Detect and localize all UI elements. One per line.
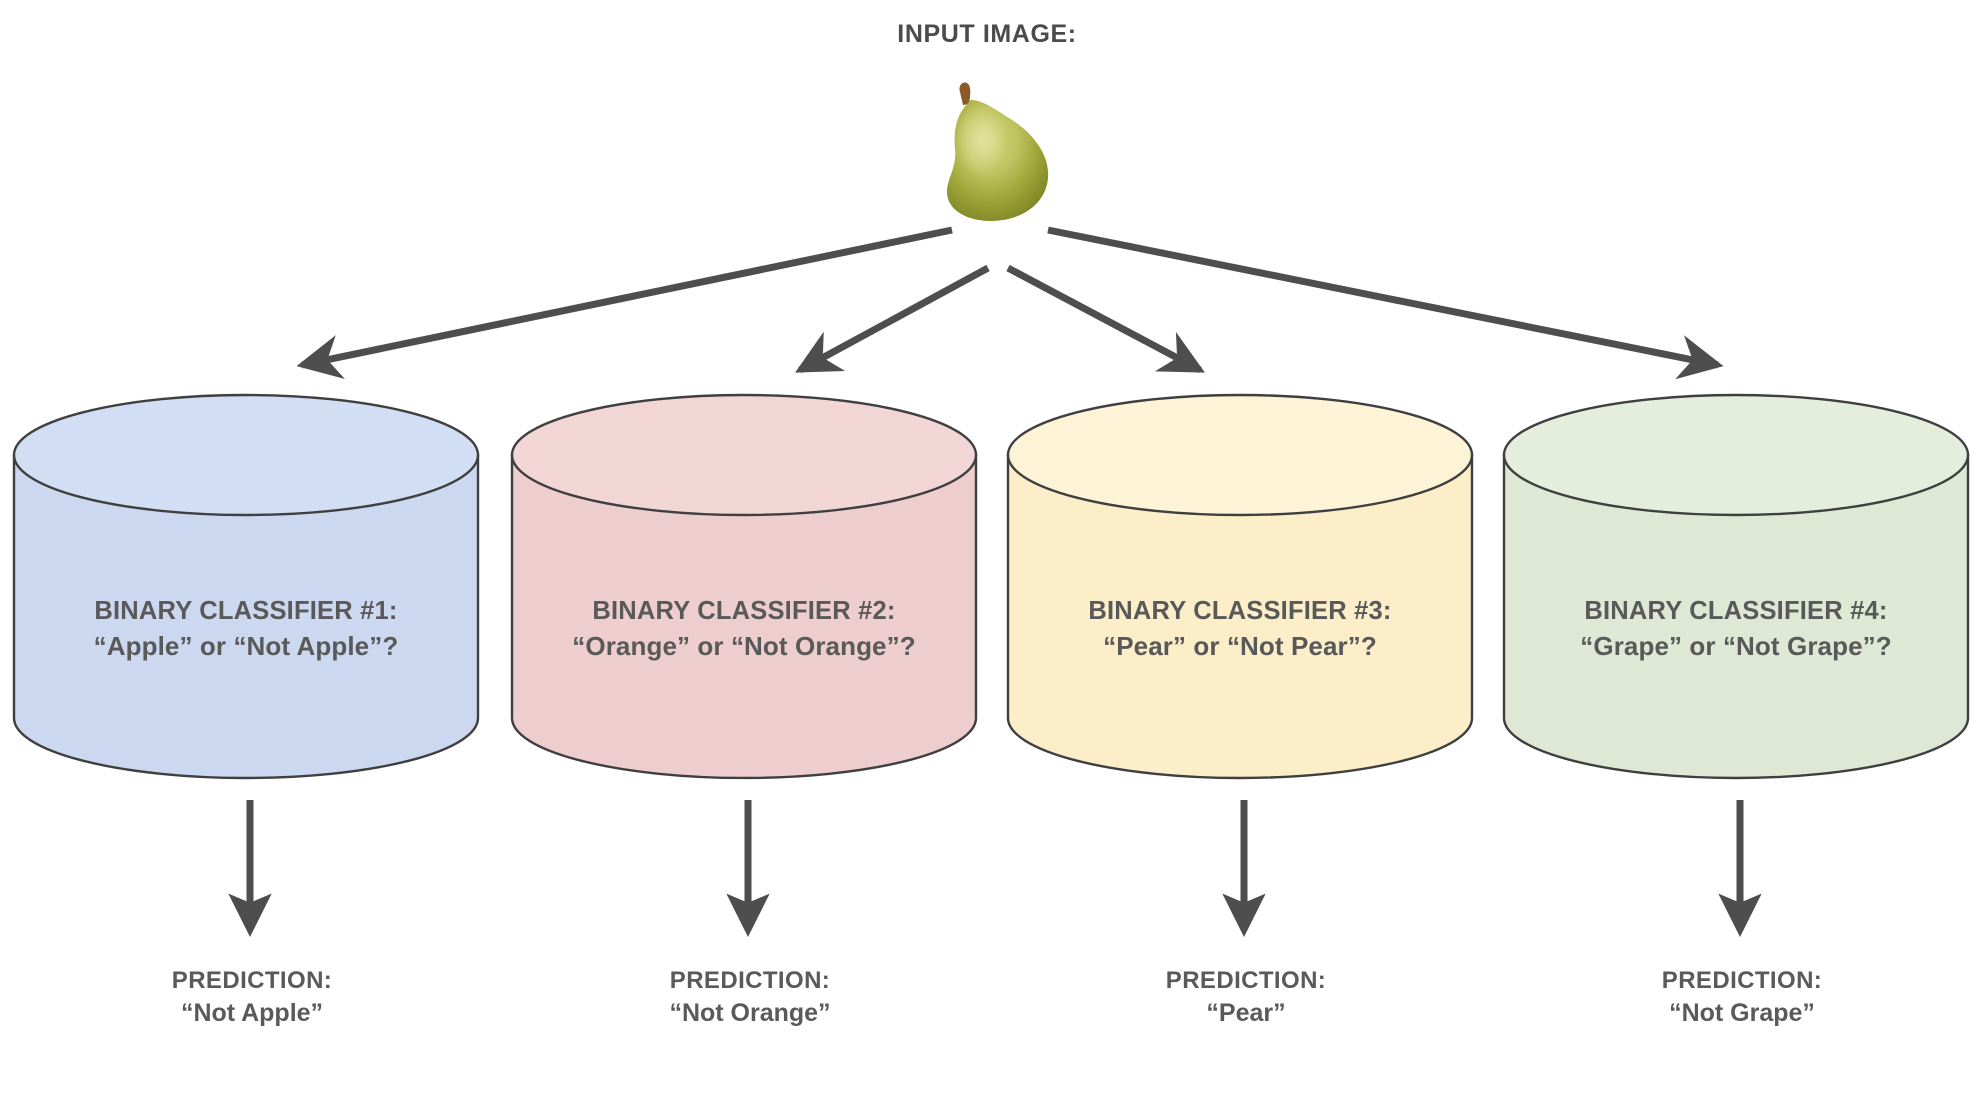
arrow-input-to-classifier-1 [302,230,952,365]
prediction-3-title: PREDICTION: [1014,965,1478,997]
prediction-3-value: “Pear” [1014,997,1478,1031]
classifier-3-cylinder[interactable] [1008,395,1472,778]
classifier-3-top [1008,395,1472,515]
prediction-4-value: “Not Grape” [1510,997,1974,1031]
arrow-input-to-classifier-3 [1008,268,1200,370]
prediction-4: PREDICTION: “Not Grape” [1510,965,1974,1031]
prediction-arrows [250,800,1740,930]
prediction-4-title: PREDICTION: [1510,965,1974,997]
classifier-1-cylinder[interactable] [14,395,478,778]
prediction-1: PREDICTION: “Not Apple” [20,965,484,1031]
classifier-2-top [512,395,976,515]
prediction-3: PREDICTION: “Pear” [1014,965,1478,1031]
classifier-1-top [14,395,478,515]
diagram-canvas: INPUT IMAGE: [0,0,1974,1100]
classifier-2-cylinder[interactable] [512,395,976,778]
prediction-2-value: “Not Orange” [518,997,982,1031]
prediction-2-title: PREDICTION: [518,965,982,997]
diagram-graphics [0,0,1974,1100]
classifier-4-cylinder[interactable] [1504,395,1968,778]
prediction-1-title: PREDICTION: [20,965,484,997]
prediction-2: PREDICTION: “Not Orange” [518,965,982,1031]
classifier-4-top [1504,395,1968,515]
arrow-input-to-classifier-2 [800,268,988,370]
prediction-1-value: “Not Apple” [20,997,484,1031]
fanout-arrows [302,230,1718,370]
